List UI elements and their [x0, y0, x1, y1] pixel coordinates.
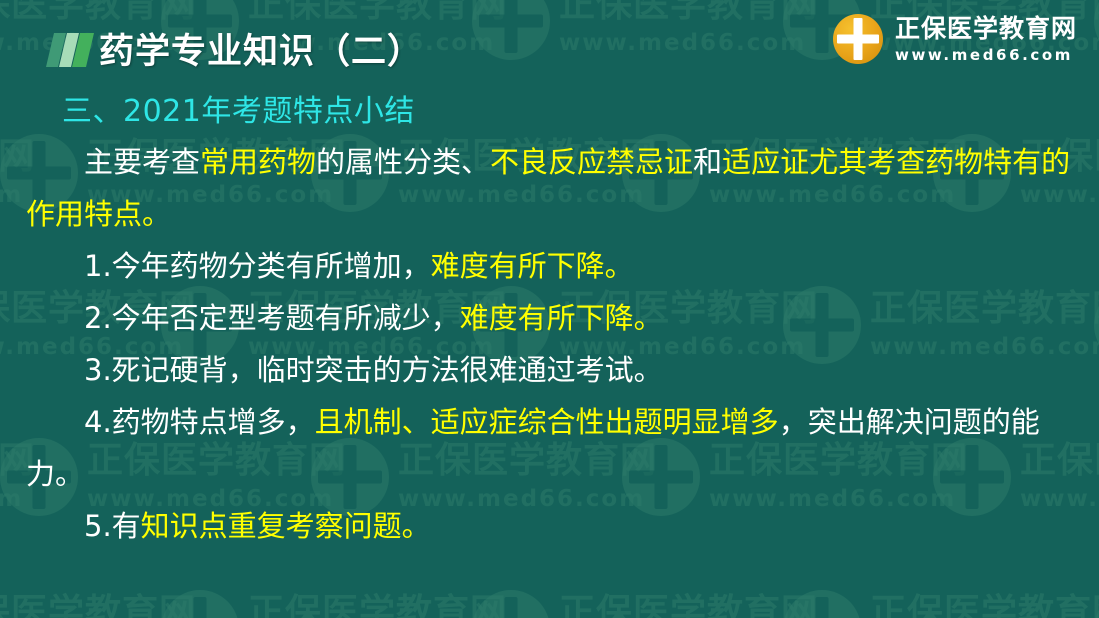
brand-text: 正保医学教育网 www.med66.com — [895, 16, 1077, 63]
slide-header: 药学专业知识（二） 正保医学教育网 www.med66.com — [0, 0, 1099, 80]
medical-cross-circle-icon — [833, 14, 883, 64]
watermark-tile: 正保医学教育网www.med66.com — [161, 590, 507, 618]
paragraph-point-1: 1.今年药物分类有所增加，难度有所下降。 — [26, 240, 1075, 292]
highlighted-text: 难度有所下降。 — [460, 301, 663, 335]
medical-cross-circle-icon — [472, 590, 550, 618]
body-text: 3.死记硬背，临时突击的方法很难通过考试。 — [84, 353, 663, 387]
paragraph-point-3: 3.死记硬背，临时突击的方法很难通过考试。 — [26, 344, 1075, 396]
watermark-tile: 正保医学教育网www.med66.com — [0, 590, 196, 618]
body-text: 1.今年药物分类有所增加， — [84, 249, 431, 283]
body-text: 2.今年否定型考题有所减少， — [84, 301, 460, 335]
highlighted-text: 且机制、适应症综合性出题明显增多 — [315, 405, 779, 439]
highlighted-text: 知识点重复考察问题。 — [141, 509, 431, 543]
watermark-text: 正保医学教育网www.med66.com — [870, 595, 1099, 618]
highlighted-text: 常用药物 — [200, 145, 316, 179]
brand-url: www.med66.com — [895, 48, 1077, 63]
highlighted-text: 难度有所下降。 — [431, 249, 634, 283]
cross-horizontal-bar — [837, 35, 879, 44]
highlighted-text: 不良反应禁忌证 — [490, 145, 693, 179]
watermark-text: 正保医学教育网www.med66.com — [559, 595, 818, 618]
body-text: 5.有 — [84, 509, 141, 543]
paragraph-intro: 主要考查常用药物的属性分类、不良反应禁忌证和适应证尤其考查药物特有的作用特点。 — [26, 136, 1075, 240]
watermark-brand-name: 正保医学教育网 — [0, 595, 196, 618]
paragraph-point-4: 4.药物特点增多，且机制、适应症综合性出题明显增多，突出解决问题的能力。 — [26, 396, 1075, 500]
watermark-brand-name: 正保医学教育网 — [559, 595, 818, 618]
slide-content: 三、2021年考题特点小结 主要考查常用药物的属性分类、不良反应禁忌证和适应证尤… — [0, 86, 1099, 552]
body-text: 的属性分类、 — [316, 145, 490, 179]
body-text: 和 — [693, 145, 722, 179]
brand-name: 正保医学教育网 — [895, 16, 1077, 41]
paragraph-point-2: 2.今年否定型考题有所减少，难度有所下降。 — [26, 292, 1075, 344]
watermark-text: 正保医学教育网www.med66.com — [248, 595, 507, 618]
presentation-slide: 正保医学教育网www.med66.com正保医学教育网www.med66.com… — [0, 0, 1099, 618]
body-text: 主要考查 — [84, 145, 200, 179]
paragraph-list: 主要考查常用药物的属性分类、不良反应禁忌证和适应证尤其考查药物特有的作用特点。1… — [26, 136, 1075, 552]
watermark-brand-name: 正保医学教育网 — [248, 595, 507, 618]
body-text: 4.药物特点增多， — [84, 405, 315, 439]
medical-cross-circle-icon — [161, 590, 239, 618]
section-heading: 三、2021年考题特点小结 — [62, 86, 1075, 130]
watermark-brand-name: 正保医学教育网 — [870, 595, 1099, 618]
page-title: 药学专业知识（二） — [99, 23, 423, 74]
watermark-tile: 正保医学教育网www.med66.com — [783, 590, 1099, 618]
watermark-tile: 正保医学教育网www.med66.com — [1094, 590, 1099, 618]
brand-logo: 正保医学教育网 www.med66.com — [833, 14, 1077, 64]
watermark-tile: 正保医学教育网www.med66.com — [472, 590, 818, 618]
three-slanted-bars-icon — [44, 27, 96, 71]
medical-cross-circle-icon — [1094, 590, 1099, 618]
medical-cross-circle-icon — [783, 590, 861, 618]
paragraph-point-5: 5.有知识点重复考察问题。 — [26, 500, 1075, 552]
watermark-text: 正保医学教育网www.med66.com — [0, 595, 196, 618]
